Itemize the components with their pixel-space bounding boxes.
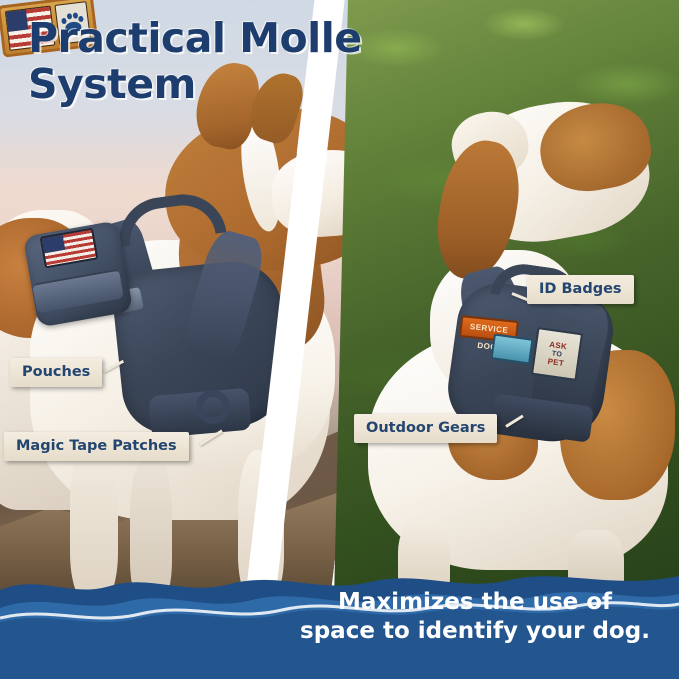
- callout-pouches: Pouches: [10, 358, 102, 387]
- left-harness-leash-ring: [196, 390, 230, 424]
- headline-line-1: Practical Molle: [28, 16, 362, 62]
- reflective-patch: [490, 333, 533, 364]
- page-title: Practical Molle System: [28, 16, 362, 108]
- id-badge-patch: ASK TO PET: [531, 327, 583, 381]
- callout-magic-tape-patches: Magic Tape Patches: [4, 432, 189, 461]
- callout-id-badges: ID Badges: [527, 275, 634, 304]
- callout-outdoor-gears: Outdoor Gears: [354, 414, 497, 443]
- caption-line-2: space to identify your dog.: [286, 617, 664, 646]
- flag-canton: [6, 10, 28, 32]
- headline-line-2: System: [28, 62, 362, 108]
- promo-image-root: SERVICE DOG ASK TO PET Practical Molle S…: [0, 0, 679, 679]
- bottom-caption: Maximizes the use of space to identify y…: [286, 588, 664, 646]
- id-badge-line3: PET: [547, 357, 564, 367]
- caption-line-1: Maximizes the use of: [286, 588, 664, 617]
